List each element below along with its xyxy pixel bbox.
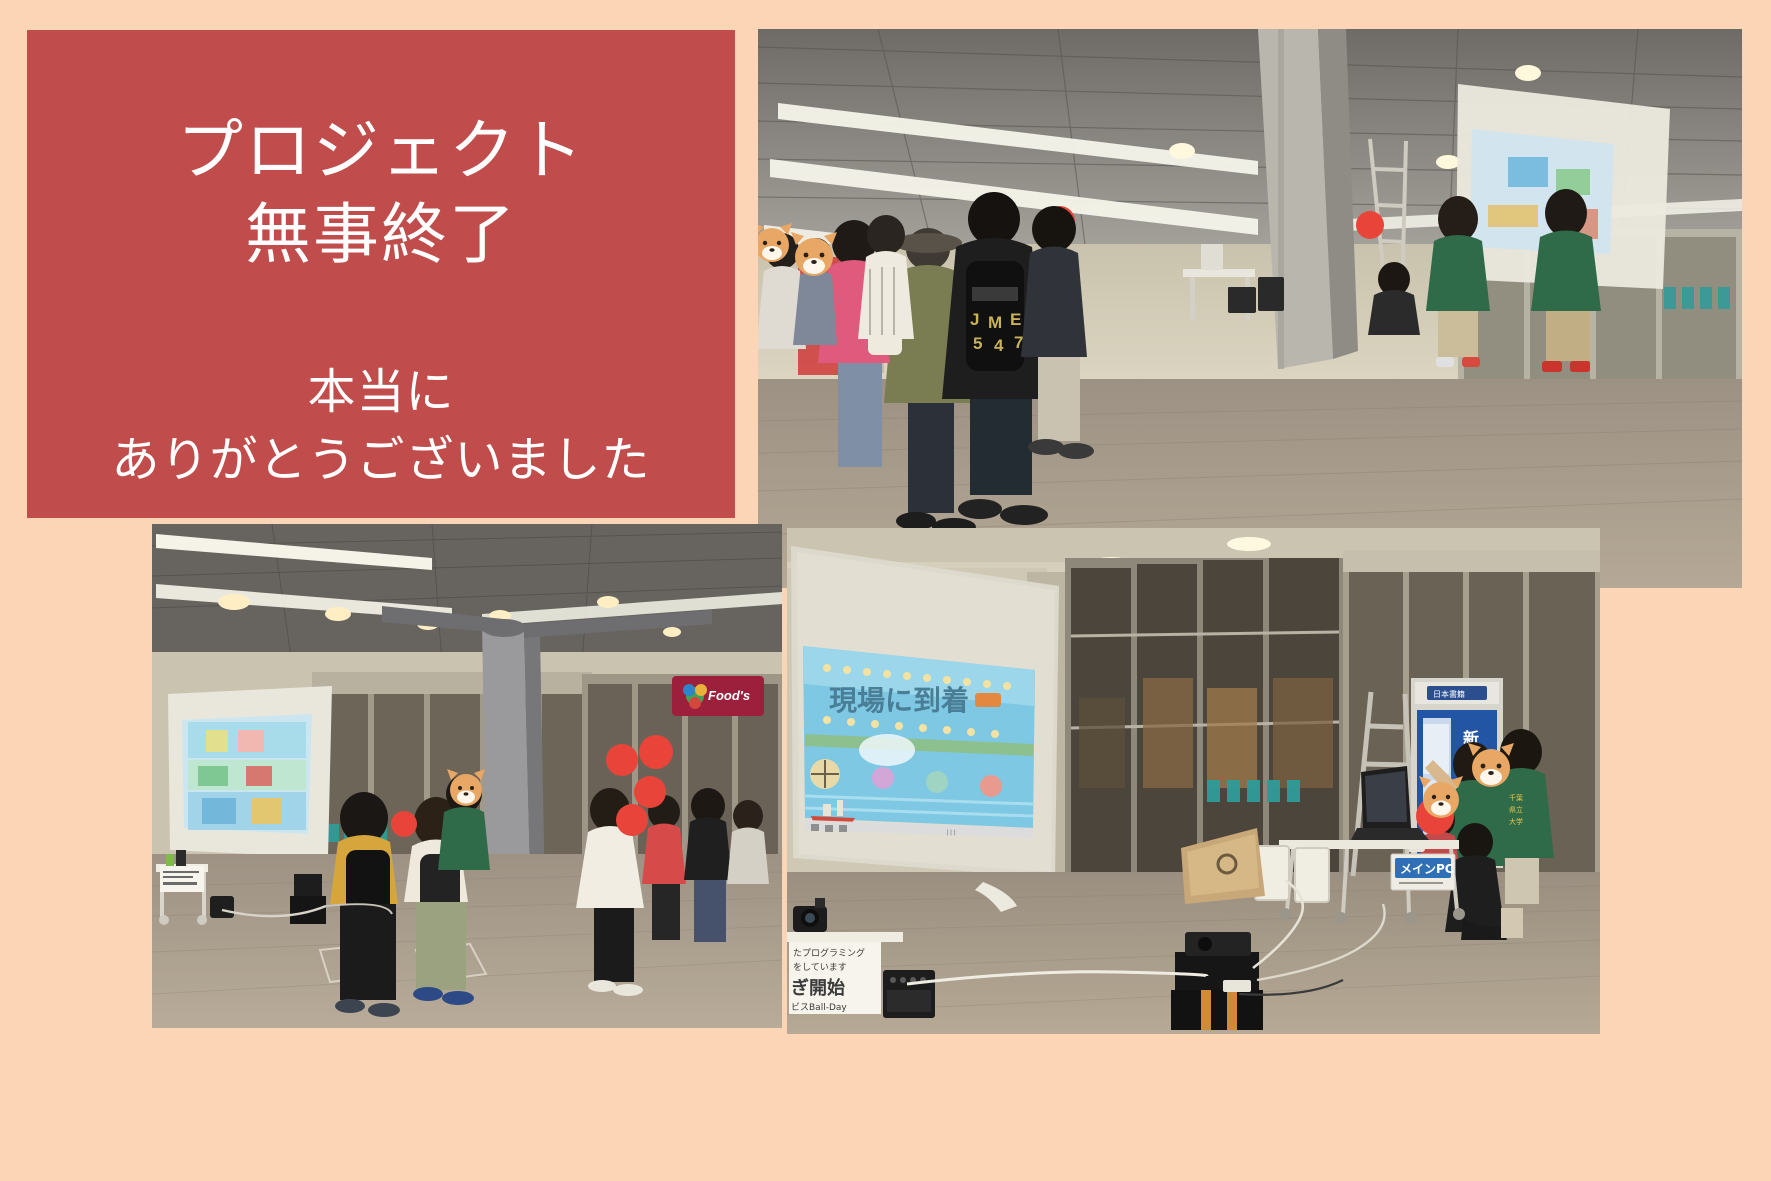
svg-text:| | |: | | | xyxy=(947,830,955,836)
photo-illustration-bottom-right: 現場に到着 xyxy=(787,528,1600,1034)
svg-text:県立: 県立 xyxy=(1509,805,1523,814)
store-sign-text: Food's xyxy=(708,688,750,703)
table-sign-line4: ビスBall-Day xyxy=(791,1002,847,1013)
svg-text:大学: 大学 xyxy=(1509,817,1523,826)
main-pc-sign: メインPC xyxy=(1391,854,1455,890)
svg-text:E: E xyxy=(1010,310,1021,329)
photo-projection-screen-and-crowd: Food's xyxy=(152,524,782,1028)
main-pc-sign-label: メインPC xyxy=(1400,862,1454,876)
photo-illustration-top-right: JME 547 xyxy=(758,29,1742,588)
svg-text:4: 4 xyxy=(994,336,1004,355)
photo-illustration-bottom-left: Food's xyxy=(152,524,782,1028)
svg-text:日本書籍: 日本書籍 xyxy=(1433,689,1465,699)
svg-text:千葉: 千葉 xyxy=(1509,793,1523,802)
photo-queue-in-mall-corridor: JME 547 xyxy=(758,29,1742,588)
photo-projector-setup-and-staff: 現場に到着 xyxy=(787,528,1600,1034)
poster-canvas: プロジェクト 無事終了 本当に ありがとうございました xyxy=(0,0,1771,1181)
projected-headline: 現場に到着 xyxy=(829,684,969,716)
svg-text:M: M xyxy=(988,313,1002,332)
thanks-message: 本当に ありがとうございました xyxy=(111,359,650,495)
title-panel: プロジェクト 無事終了 本当に ありがとうございました xyxy=(27,30,735,518)
page-title: プロジェクト 無事終了 xyxy=(177,108,585,277)
table-sign-line1: たプログラミング xyxy=(793,947,865,959)
svg-text:J: J xyxy=(970,310,979,329)
table-sign-line3: ぎ開始 xyxy=(791,977,845,999)
svg-text:5: 5 xyxy=(973,334,982,353)
table-sign-line2: をしています xyxy=(793,962,847,973)
